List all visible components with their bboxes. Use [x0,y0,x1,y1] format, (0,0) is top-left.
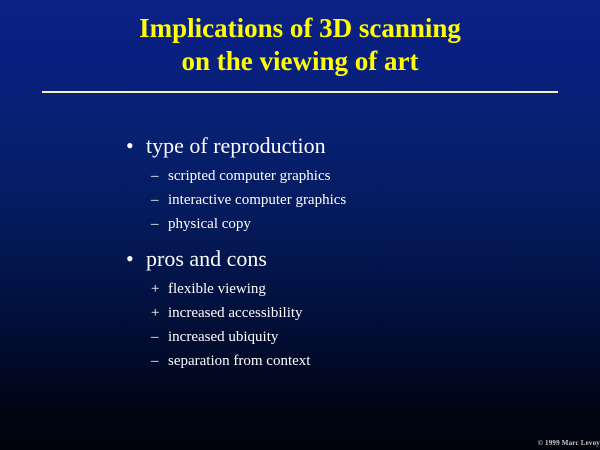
bullet-level2-scripted-computer-graphics: – scripted computer graphics [0,164,600,188]
bullet-group-type-of-reproduction: • type of reproduction – scripted comput… [0,131,600,236]
title-divider-rule [42,91,558,93]
dash-marker-icon: – [151,164,167,188]
dash-marker-icon: – [151,349,167,373]
slide-title-line-2: on the viewing of art [0,45,600,78]
bullet-level2-increased-ubiquity: – increased ubiquity [0,325,600,349]
bullet-dot-icon: • [126,131,142,160]
slide-title-line-1: Implications of 3D scanning [0,12,600,45]
bullet-level2-label: increased accessibility [168,305,303,321]
slide-title: Implications of 3D scanning on the viewi… [0,12,600,78]
bullet-level2-label: interactive computer graphics [168,192,346,208]
bullet-level1-type-of-reproduction: • type of reproduction [0,131,600,160]
dash-marker-icon: – [151,188,167,212]
presentation-slide: Implications of 3D scanning on the viewi… [0,0,600,450]
plus-marker-icon: + [151,277,167,301]
bullet-level2-label: increased ubiquity [168,329,278,345]
bullet-level2-label: separation from context [168,353,310,369]
bullet-level2-physical-copy: – physical copy [0,212,600,236]
bullet-level1-pros-and-cons: • pros and cons [0,244,600,273]
bullet-level2-label: physical copy [168,216,251,232]
bullet-level2-label: scripted computer graphics [168,168,330,184]
bullet-level2-interactive-computer-graphics: – interactive computer graphics [0,188,600,212]
dash-marker-icon: – [151,325,167,349]
bullet-level2-flexible-viewing: + flexible viewing [0,277,600,301]
dash-marker-icon: – [151,212,167,236]
bullet-level2-label: flexible viewing [168,281,266,297]
bullet-level2-increased-accessibility: + increased accessibility [0,301,600,325]
bullet-dot-icon: • [126,244,142,273]
bullet-level2-separation-from-context: – separation from context [0,349,600,373]
slide-body: • type of reproduction – scripted comput… [0,131,600,373]
plus-marker-icon: + [151,301,167,325]
bullet-level1-label: pros and cons [146,246,267,271]
bullet-level1-label: type of reproduction [146,133,326,158]
bullet-group-pros-and-cons: • pros and cons + flexible viewing + inc… [0,244,600,373]
copyright-credit: © 1999 Marc Levoy [538,439,600,448]
